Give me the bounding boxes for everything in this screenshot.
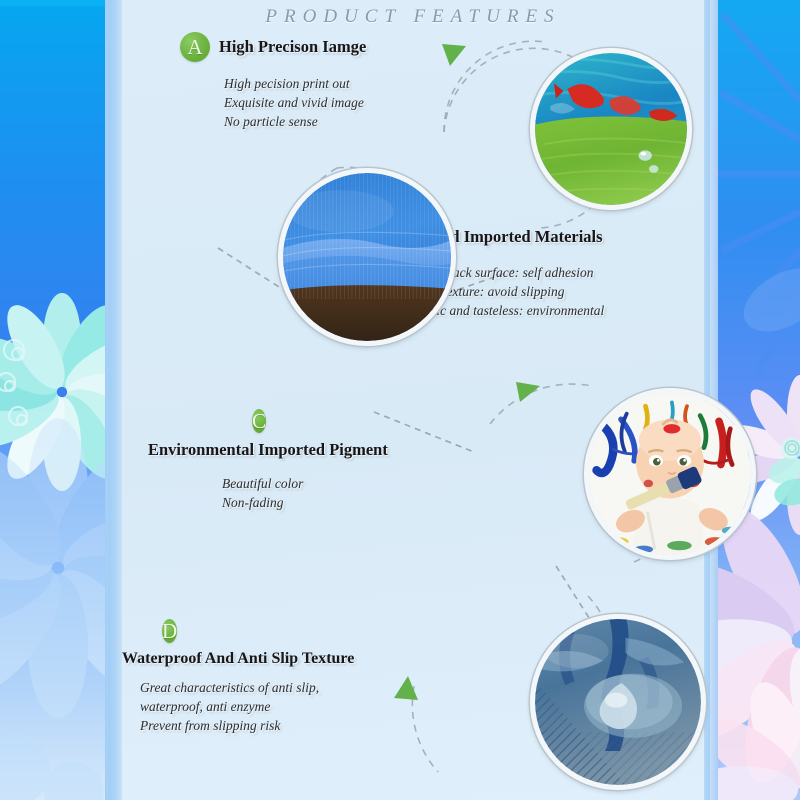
feature-block-d: D Waterproof And Anti Slip Texture Great… bbox=[122, 616, 354, 735]
badge-letter-a: A bbox=[180, 32, 210, 62]
green-arrow-icon-a bbox=[442, 44, 466, 66]
page-title: PRODUCT FEATURES bbox=[122, 6, 704, 28]
feature-a-lines: High pecision print out Exquisite and vi… bbox=[224, 74, 366, 131]
feature-c-line-2: Non-fading bbox=[222, 493, 388, 512]
blue-flower-border-right bbox=[704, 0, 800, 800]
badge-letter-c: C bbox=[252, 409, 266, 433]
feature-c-title: Environmental Imported Pigment bbox=[148, 440, 388, 460]
feature-a-header: A High Precison Iamge bbox=[180, 32, 366, 62]
koi-fish-pond-photo bbox=[530, 48, 692, 210]
feature-d-header: D Waterproof And Anti Slip Texture bbox=[122, 616, 354, 668]
dashed-arc-d bbox=[412, 686, 438, 772]
feature-d-line-3: Prevent from slipping risk bbox=[140, 716, 354, 735]
green-arrow-icon-d bbox=[394, 676, 418, 700]
blue-flower-border-left bbox=[0, 0, 122, 800]
feature-a-line-2: Exquisite and vivid image bbox=[224, 93, 366, 112]
feature-c-lines: Beautiful color Non-fading bbox=[222, 474, 388, 512]
feature-d-line-1: Great characteristics of anti slip, bbox=[140, 678, 354, 697]
feature-d-line-2: waterproof, anti enzyme bbox=[140, 697, 354, 716]
feature-block-c: C Environmental Imported Pigment Beautif… bbox=[148, 406, 388, 512]
green-arrow-icon-c bbox=[516, 382, 540, 402]
feature-d-lines: Great characteristics of anti slip, wate… bbox=[140, 678, 354, 735]
feature-a-line-3: No particle sense bbox=[224, 112, 366, 131]
dashed-arc-c bbox=[490, 384, 592, 424]
left-band-graphic bbox=[0, 0, 122, 800]
feature-block-a: A High Precison Iamge High pecision prin… bbox=[180, 32, 366, 131]
feature-c-line-1: Beautiful color bbox=[222, 474, 388, 493]
baby-photo-graphic bbox=[589, 393, 751, 555]
right-band-graphic bbox=[704, 0, 800, 800]
feature-c-header: C Environmental Imported Pigment bbox=[148, 406, 388, 460]
content-panel: PRODUCT FEATURES bbox=[122, 0, 704, 800]
feature-d-title: Waterproof And Anti Slip Texture bbox=[122, 650, 354, 668]
badge-letter-d: D bbox=[162, 619, 177, 643]
feature-a-line-1: High pecision print out bbox=[224, 74, 366, 93]
connector-c-left bbox=[374, 412, 474, 452]
koi-photo-graphic bbox=[535, 53, 687, 205]
waterproof-photo-graphic bbox=[535, 619, 701, 785]
feature-a-title: High Precison Iamge bbox=[219, 37, 366, 57]
water-droplet-shape bbox=[584, 674, 682, 738]
water-droplet-texture-photo bbox=[530, 614, 706, 790]
fabric-photo-graphic bbox=[283, 173, 451, 341]
infographic-canvas: PRODUCT FEATURES bbox=[0, 0, 800, 800]
baby-painting-photo bbox=[584, 388, 756, 560]
blue-fabric-texture-photo bbox=[278, 168, 456, 346]
